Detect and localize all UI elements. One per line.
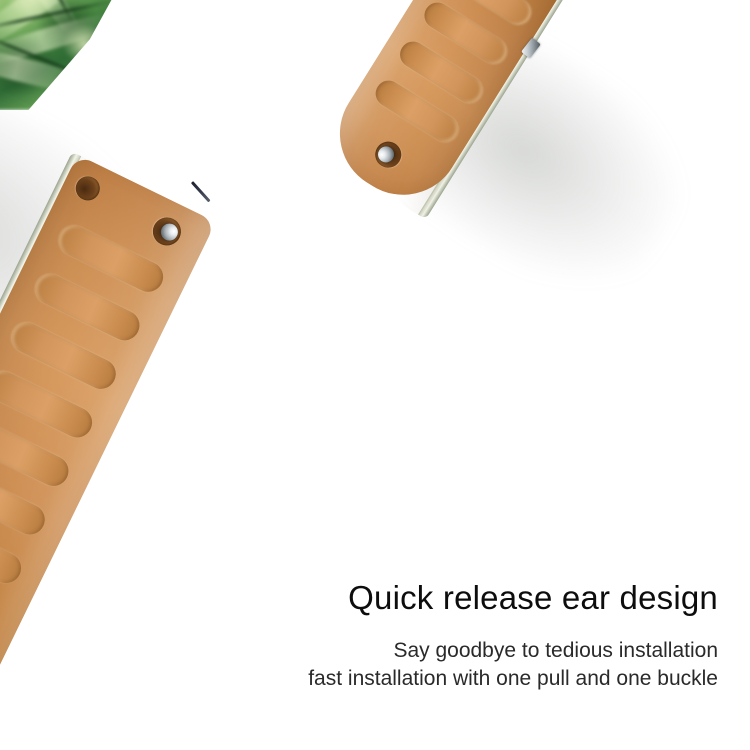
leaf-highlight xyxy=(62,24,106,64)
caption-subtitle-line-2: fast installation with one pull and one … xyxy=(308,665,718,693)
caption-subtitle-line-1: Say goodbye to tedious installation xyxy=(308,637,718,665)
tropical-leaf-print-corner xyxy=(0,0,118,110)
caption-subtitle: Say goodbye to tedious installation fast… xyxy=(308,637,718,693)
page-title: Quick release ear design xyxy=(348,578,718,618)
product-image-canvas: Quick release ear design Say goodbye to … xyxy=(0,0,750,750)
